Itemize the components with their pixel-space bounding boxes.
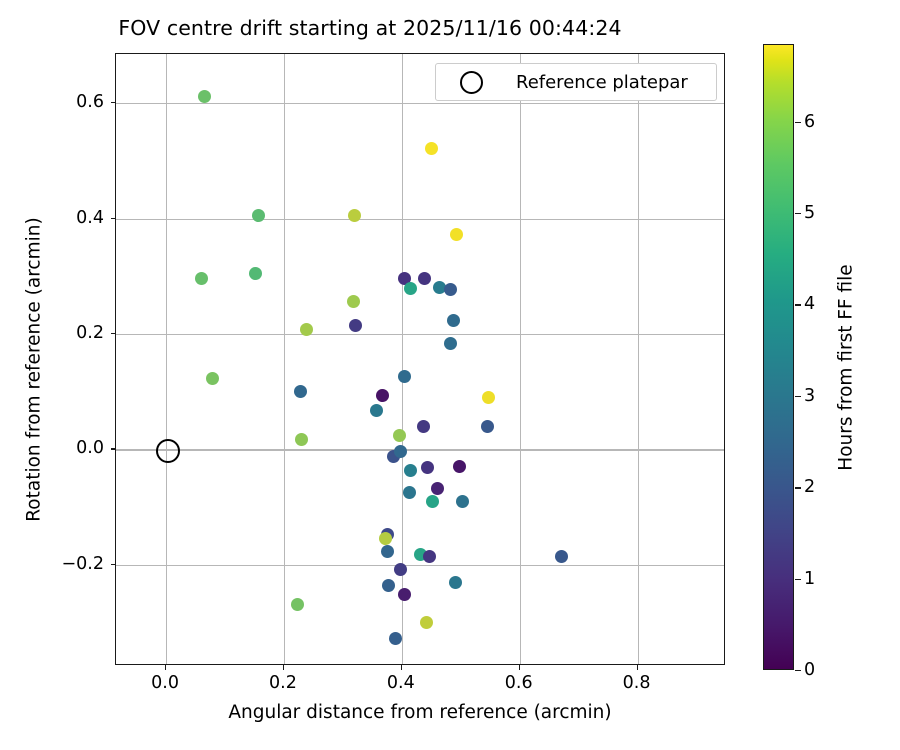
data-point — [206, 372, 219, 385]
data-point — [398, 588, 411, 601]
colorbar-tick — [795, 396, 801, 397]
colorbar-tick — [795, 304, 801, 305]
data-point — [348, 209, 361, 222]
data-point — [382, 579, 395, 592]
chart-root: FOV centre drift starting at 2025/11/16 … — [0, 0, 900, 750]
data-point — [420, 616, 433, 629]
y-tick-label: 0.4 — [76, 208, 104, 228]
data-point — [431, 482, 444, 495]
data-point — [417, 420, 430, 433]
gridline-horizontal — [116, 565, 724, 566]
data-point — [481, 420, 494, 433]
gridline-vertical — [638, 54, 639, 664]
gridline-vertical — [520, 54, 521, 664]
y-tick — [111, 218, 116, 219]
data-point — [482, 391, 495, 404]
y-tick — [111, 448, 116, 449]
data-point — [381, 545, 394, 558]
data-point — [347, 295, 360, 308]
data-point — [349, 319, 362, 332]
y-tick-label: −0.2 — [62, 554, 105, 574]
data-point — [394, 445, 407, 458]
data-point — [393, 429, 406, 442]
data-point — [426, 495, 439, 508]
y-tick — [111, 333, 116, 334]
colorbar-label: Hours from first FF file — [836, 208, 857, 528]
x-axis-label: Angular distance from reference (arcmin) — [115, 702, 725, 723]
y-axis-label: Rotation from reference (arcmin) — [24, 210, 45, 530]
data-point — [453, 460, 466, 473]
data-point — [425, 142, 438, 155]
x-tick-label: 0.0 — [151, 673, 179, 693]
gridline-horizontal — [116, 219, 724, 220]
data-point — [398, 370, 411, 383]
colorbar-tick-label: 6 — [804, 112, 815, 132]
data-point — [450, 228, 463, 241]
colorbar-tick — [795, 487, 801, 488]
data-point — [376, 389, 389, 402]
x-tick-label: 0.8 — [623, 673, 651, 693]
colorbar-tick-label: 3 — [804, 386, 815, 406]
data-point — [447, 314, 460, 327]
colorbar-tick-label: 0 — [804, 660, 815, 680]
gridline-vertical — [166, 54, 167, 664]
data-point — [389, 632, 402, 645]
colorbar-tick-label: 4 — [804, 294, 815, 314]
reference-platepar-marker — [156, 439, 180, 463]
y-tick-label: 0.6 — [76, 92, 104, 112]
x-tick — [165, 665, 166, 670]
data-point — [555, 550, 568, 563]
colorbar-tick-label: 2 — [804, 477, 815, 497]
data-point — [291, 598, 304, 611]
reference-platepar-icon — [460, 71, 483, 94]
data-point — [370, 404, 383, 417]
data-point — [195, 272, 208, 285]
x-tick — [519, 665, 520, 670]
gridline-horizontal — [116, 103, 724, 104]
data-point — [394, 563, 407, 576]
legend-label: Reference platepar — [516, 72, 688, 93]
data-point — [404, 282, 417, 295]
gridline-vertical — [284, 54, 285, 664]
data-point — [294, 385, 307, 398]
x-tick — [637, 665, 638, 670]
x-tick — [401, 665, 402, 670]
colorbar-tick — [795, 122, 801, 123]
y-tick — [111, 102, 116, 103]
y-tick — [111, 564, 116, 565]
x-tick-label: 0.6 — [505, 673, 533, 693]
y-tick-label: 0.2 — [76, 323, 104, 343]
plot-area — [115, 53, 725, 665]
x-tick — [283, 665, 284, 670]
data-point — [295, 433, 308, 446]
data-point — [418, 272, 431, 285]
data-point — [379, 532, 392, 545]
colorbar-tick — [795, 213, 801, 214]
data-point — [404, 464, 417, 477]
page-title: FOV centre drift starting at 2025/11/16 … — [0, 16, 740, 40]
data-point — [252, 209, 265, 222]
data-point — [456, 495, 469, 508]
colorbar — [763, 44, 794, 670]
data-point — [403, 486, 416, 499]
colorbar-tick-label: 1 — [804, 569, 815, 589]
data-point — [198, 90, 211, 103]
gridline-horizontal — [116, 334, 724, 335]
x-tick-label: 0.4 — [387, 673, 415, 693]
y-tick-label: 0.0 — [76, 438, 104, 458]
data-point — [421, 461, 434, 474]
data-point — [423, 550, 436, 563]
data-point — [249, 267, 262, 280]
colorbar-tick — [795, 579, 801, 580]
colorbar-tick-label: 5 — [804, 203, 815, 223]
data-point — [444, 337, 457, 350]
x-tick-label: 0.2 — [269, 673, 297, 693]
colorbar-tick — [795, 670, 801, 671]
legend[interactable]: Reference platepar — [435, 63, 717, 101]
y-tick-labels: −0.20.00.20.40.6 — [0, 0, 104, 750]
data-point — [449, 576, 462, 589]
data-point — [444, 283, 457, 296]
gridline-horizontal — [116, 449, 724, 450]
